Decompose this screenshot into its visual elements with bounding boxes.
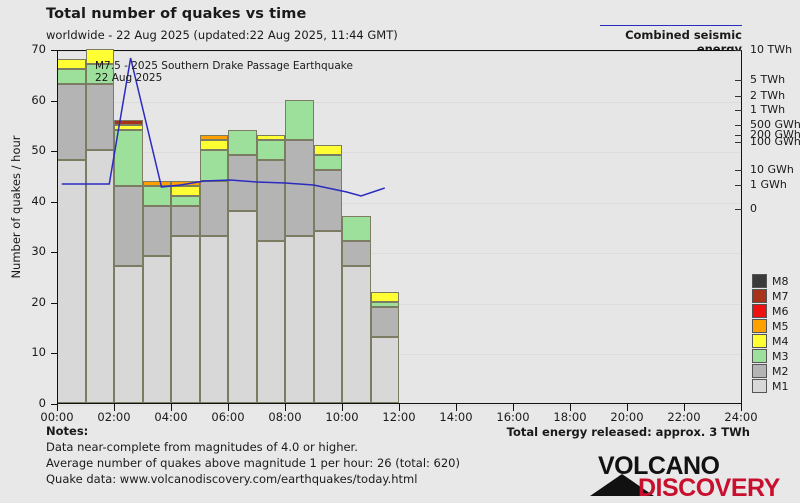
x-tick-label: 22:00	[654, 410, 714, 424]
energy-tick	[735, 209, 742, 210]
notes-heading: Notes:	[46, 424, 88, 438]
energy-tick-label: 1 TWh	[750, 103, 785, 116]
energy-tick-label: 10 GWh	[750, 163, 794, 176]
plot-area	[57, 50, 741, 404]
y-tick-label: 70	[6, 42, 46, 56]
legend-swatch-M4	[752, 334, 767, 348]
legend-swatch-M7	[752, 289, 767, 303]
y-tick-label: 40	[6, 194, 46, 208]
energy-tick	[735, 170, 742, 171]
y-tick-label: 20	[6, 295, 46, 309]
legend-label-M5: M5	[772, 320, 789, 333]
y-tick-label: 10	[6, 345, 46, 359]
volcanodiscovery-logo[interactable]: VOLCANO DISCOVERY	[580, 452, 760, 496]
x-tick-label: 24:00	[711, 410, 771, 424]
energy-tick	[735, 96, 742, 97]
x-tick-label: 16:00	[483, 410, 543, 424]
y-tick	[51, 353, 57, 354]
y-tick	[51, 202, 57, 203]
legend-label-M3: M3	[772, 350, 789, 363]
x-tick-label: 12:00	[369, 410, 429, 424]
annotation-line-1: M7.5 - 2025 Southern Drake Passage Earth…	[95, 60, 353, 72]
energy-line	[57, 51, 741, 405]
x-tick-label: 06:00	[198, 410, 258, 424]
y-tick	[51, 101, 57, 102]
legend-swatch-M1	[752, 379, 767, 393]
y-tick	[51, 50, 57, 51]
total-energy-label: Total energy released: approx. 3 TWh	[440, 425, 750, 439]
x-tick-label: 14:00	[426, 410, 486, 424]
annotation-line-2: 22 Aug 2025	[95, 72, 162, 84]
note-line-3[interactable]: Quake data: www.volcanodiscovery.com/ear…	[46, 472, 417, 486]
logo-word-discovery: DISCOVERY	[638, 474, 780, 503]
legend-swatch-M3	[752, 349, 767, 363]
x-tick-label: 20:00	[597, 410, 657, 424]
y-tick-label: 60	[6, 93, 46, 107]
legend-label-M6: M6	[772, 305, 789, 318]
energy-tick-label: 100 GWh	[750, 135, 800, 148]
energy-tick	[735, 135, 742, 136]
x-tick-label: 10:00	[312, 410, 372, 424]
energy-legend-swatch	[600, 25, 742, 26]
legend-swatch-M6	[752, 304, 767, 318]
legend-label-M7: M7	[772, 290, 789, 303]
energy-tick-label: 0	[750, 202, 757, 215]
energy-tick-label: 5 TWh	[750, 73, 785, 86]
note-line-1: Data near-complete from magnitudes of 4.…	[46, 440, 358, 454]
energy-tick	[735, 125, 742, 126]
legend-label-M8: M8	[772, 275, 789, 288]
y-tick-label: 30	[6, 244, 46, 258]
y-axis-line	[57, 50, 58, 404]
y-tick-label: 50	[6, 143, 46, 157]
energy-tick	[735, 142, 742, 143]
note-line-2: Average number of quakes above magnitude…	[46, 456, 460, 470]
energy-tick-label: 2 TWh	[750, 89, 785, 102]
energy-tick	[735, 80, 742, 81]
legend-swatch-M8	[752, 274, 767, 288]
legend-label-M1: M1	[772, 380, 789, 393]
x-tick-label: 00:00	[27, 410, 87, 424]
x-tick-label: 02:00	[84, 410, 144, 424]
x-tick-label: 04:00	[141, 410, 201, 424]
legend-label-M4: M4	[772, 335, 789, 348]
y-tick	[51, 252, 57, 253]
legend-swatch-M2	[752, 364, 767, 378]
page-subtitle: worldwide - 22 Aug 2025 (updated:22 Aug …	[46, 28, 398, 42]
energy-tick	[735, 185, 742, 186]
x-tick-label: 08:00	[255, 410, 315, 424]
right-axis-line	[741, 50, 742, 404]
energy-tick	[735, 50, 742, 51]
energy-tick	[735, 110, 742, 111]
legend-swatch-M5	[752, 319, 767, 333]
legend-label-M2: M2	[772, 365, 789, 378]
energy-tick-label: 10 TWh	[750, 43, 792, 56]
y-tick	[51, 303, 57, 304]
y-tick	[51, 151, 57, 152]
y-tick-label: 0	[6, 396, 46, 410]
x-tick-label: 18:00	[540, 410, 600, 424]
chart-page: Total number of quakes vs time worldwide…	[0, 0, 800, 500]
page-title: Total number of quakes vs time	[46, 6, 306, 22]
energy-tick-label: 1 GWh	[750, 178, 787, 191]
